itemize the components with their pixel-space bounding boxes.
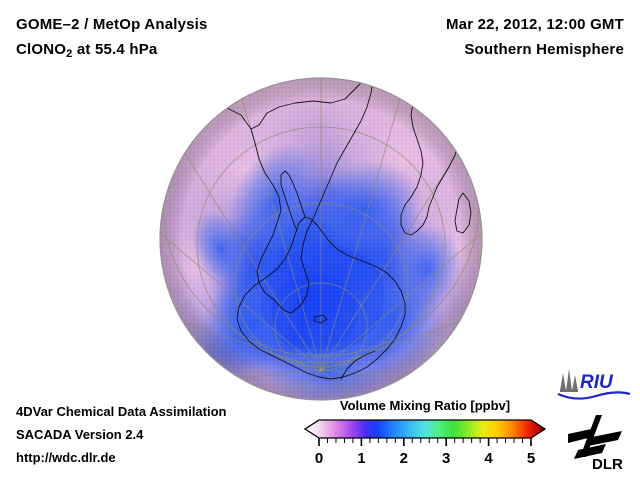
title-instrument: GOME–2 / MetOp Analysis — [16, 12, 208, 37]
riu-logo: RIU — [556, 369, 632, 403]
colorbar-ticks — [319, 438, 531, 446]
title-species-level: ClONO2 at 55.4 hPa — [16, 37, 208, 64]
species-label: ClONO — [16, 41, 66, 58]
credit-method: 4DVar Chemical Data Assimilation — [16, 400, 227, 423]
dlr-mark-icon — [568, 415, 622, 459]
timestamp-label: Mar 22, 2012, 12:00 GMT — [446, 12, 624, 37]
credits-block: 4DVar Chemical Data Assimilation SACADA … — [16, 400, 227, 469]
hemisphere-label: Southern Hemisphere — [446, 37, 624, 62]
colorbar-tick-label: 4 — [484, 450, 493, 467]
credit-url[interactable]: http://wdc.dlr.de — [16, 446, 227, 469]
colorbar: Volume Mixing Ratio [ppbv] 012345 — [305, 398, 545, 466]
colorbar-tick-label: 0 — [315, 450, 323, 467]
colorbar-tick-labels: 012345 — [315, 450, 535, 467]
colorbar-tick-label: 3 — [442, 450, 450, 467]
colorbar-tick-label: 1 — [357, 450, 365, 467]
header-right: Mar 22, 2012, 12:00 GMT Southern Hemisph… — [446, 12, 624, 62]
colorbar-gradient — [305, 420, 545, 438]
riu-wave-icon — [558, 392, 630, 398]
dlr-logo: DLR — [566, 412, 632, 472]
globe-map — [155, 73, 487, 405]
pressure-level-label: at 55.4 hPa — [73, 41, 158, 58]
credit-version: SACADA Version 2.4 — [16, 423, 227, 446]
colorbar-title: Volume Mixing Ratio [ppbv] — [305, 398, 545, 413]
south-pole-marker — [319, 368, 322, 371]
data-field — [126, 51, 539, 439]
riu-wordmark: RIU — [580, 372, 614, 393]
colorbar-tick-label: 2 — [400, 450, 408, 467]
riu-tower-icon — [560, 369, 578, 392]
dlr-wordmark: DLR — [592, 456, 623, 473]
species-subscript: 2 — [66, 48, 72, 60]
coastline-new-zealand — [467, 365, 481, 393]
header-left: GOME–2 / MetOp Analysis ClONO2 at 55.4 h… — [16, 12, 208, 64]
colorbar-tick-label: 5 — [527, 450, 535, 467]
